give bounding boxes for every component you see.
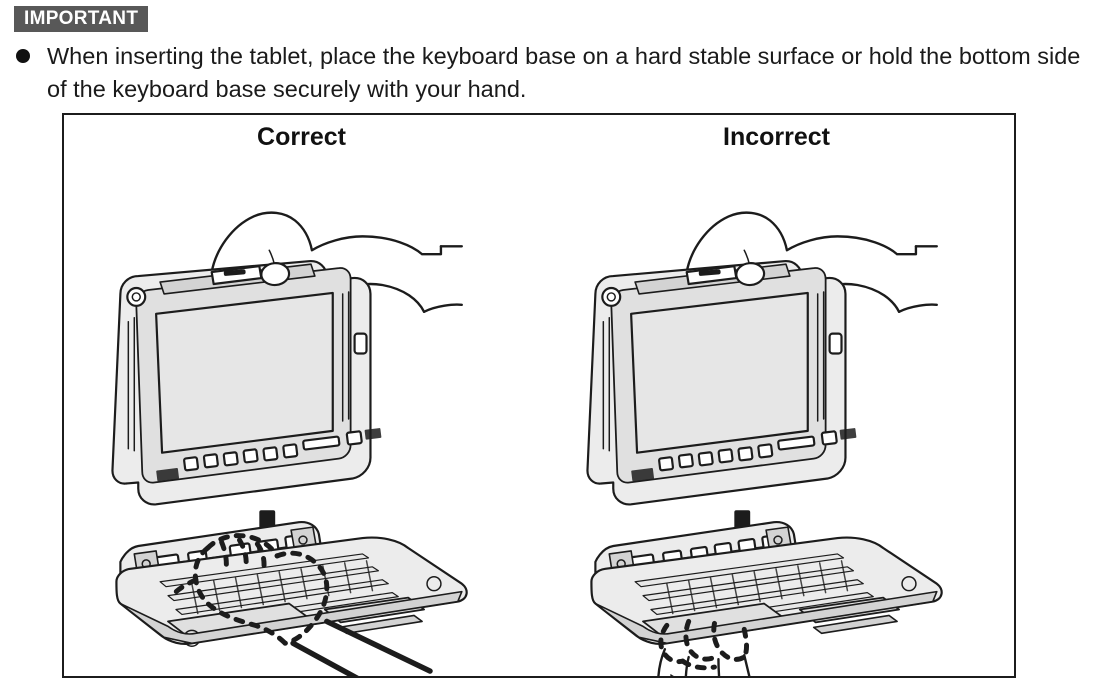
important-callout-header: IMPORTANT	[14, 6, 148, 32]
tablet-device-incorrect	[587, 261, 856, 536]
important-badge: IMPORTANT	[14, 6, 148, 32]
pane-caption-incorrect: Incorrect	[539, 123, 1014, 152]
instruction-figure-panel: Correct	[62, 113, 1016, 678]
note-bullet-item: When inserting the tablet, place the key…	[16, 40, 1086, 107]
keyboard-base-correct	[116, 522, 466, 646]
keyboard-base-incorrect	[591, 522, 941, 644]
pane-caption-correct: Correct	[64, 123, 539, 152]
figure-panes: Correct	[64, 115, 1014, 676]
tablet-device-correct	[112, 261, 381, 536]
note-text: When inserting the tablet, place the key…	[47, 40, 1086, 107]
illustration-incorrect	[539, 155, 1014, 676]
pane-correct: Correct	[64, 115, 539, 676]
illustration-correct	[64, 155, 539, 676]
bullet-icon	[16, 49, 30, 63]
pane-incorrect: Incorrect	[539, 115, 1014, 676]
